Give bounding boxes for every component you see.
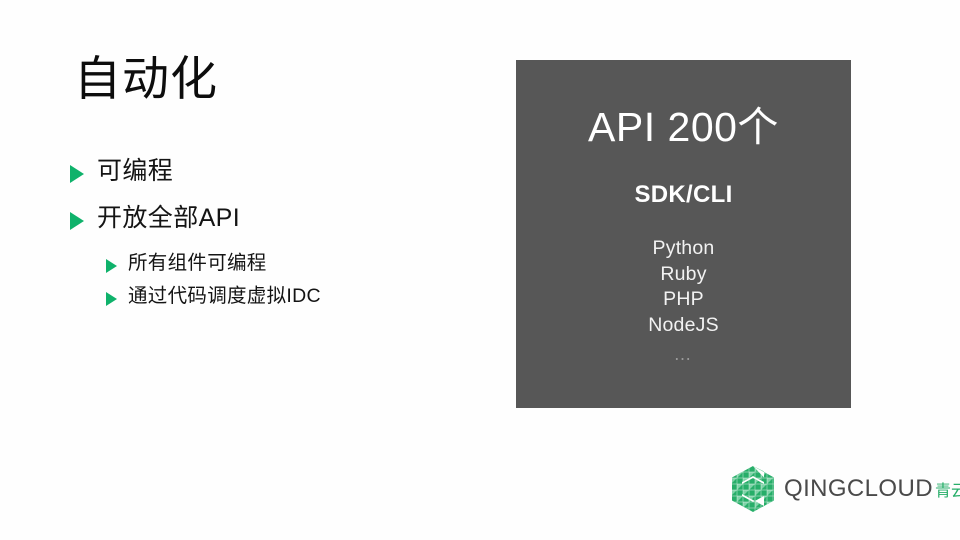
language-list-ellipsis: … xyxy=(673,342,693,368)
list-item: 可编程 xyxy=(70,158,490,184)
logo-latin-text: QINGCLOUD xyxy=(784,477,933,501)
list-item-label: 通过代码调度虚拟IDC xyxy=(128,286,321,306)
triangle-right-icon xyxy=(70,165,84,183)
list-item-label: 所有组件可编程 xyxy=(128,253,267,273)
language-item: PHP xyxy=(663,287,704,313)
bullet-list: 可编程 开放全部API 所有组件可编程 通过代码调度虚拟IDC xyxy=(70,158,490,319)
logo-chinese-text: 青云 xyxy=(935,484,960,500)
list-item-label: 开放全部API xyxy=(97,205,240,231)
panel-title: API 200个 xyxy=(588,107,779,148)
triangle-right-icon xyxy=(106,259,117,273)
api-info-panel: API 200个 SDK/CLI Python Ruby PHP NodeJS … xyxy=(516,60,851,408)
qingcloud-hexagon-icon xyxy=(731,466,775,512)
logo-wordmark: QINGCLOUD 青云 xyxy=(784,477,960,501)
list-item: 开放全部API xyxy=(70,205,490,231)
language-item: Python xyxy=(653,236,715,262)
list-item: 所有组件可编程 xyxy=(106,253,490,273)
panel-subtitle: SDK/CLI xyxy=(634,183,732,207)
triangle-right-icon xyxy=(106,292,117,306)
list-item-label: 可编程 xyxy=(97,158,173,184)
triangle-right-icon xyxy=(70,212,84,230)
language-item: NodeJS xyxy=(648,313,719,339)
page-title: 自动化 xyxy=(74,52,218,106)
presentation-slide: 自动化 可编程 开放全部API 所有组件可编程 通过代码调度虚拟IDC API … xyxy=(0,0,960,540)
language-item: Ruby xyxy=(660,262,706,288)
language-list: Python Ruby PHP NodeJS … xyxy=(648,236,719,368)
qingcloud-logo: QINGCLOUD 青云 xyxy=(731,466,960,512)
list-item: 通过代码调度虚拟IDC xyxy=(106,286,490,306)
